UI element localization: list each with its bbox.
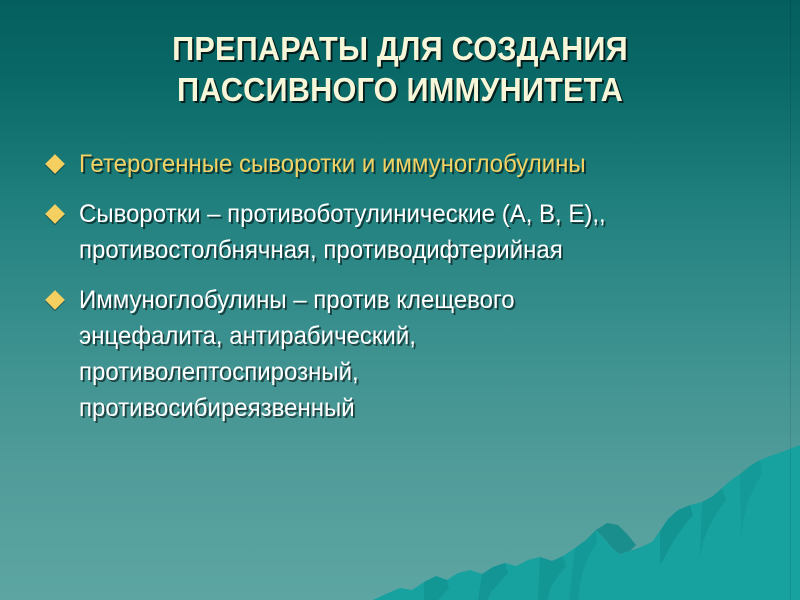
slide-right-rule bbox=[790, 0, 791, 600]
list-item[interactable]: Сыворотки – противоботулинические (А, В,… bbox=[44, 196, 764, 268]
presentation-slide: ПРЕПАРАТЫ ДЛЯ СОЗДАНИЯ ПАССИВНОГО ИММУНИ… bbox=[0, 0, 800, 600]
diamond-bullet-icon bbox=[45, 204, 65, 224]
list-item[interactable]: Иммуноглобулины – против клещевого энцеф… bbox=[44, 282, 764, 426]
diamond-bullet-icon bbox=[45, 154, 65, 174]
list-item-label: Сыворотки – противоботулинические (А, В,… bbox=[79, 196, 737, 268]
list-item[interactable]: Гетерогенные сыворотки и иммуноглобулины bbox=[44, 146, 764, 182]
diamond-bullet-icon bbox=[45, 290, 65, 310]
bullet-list: Гетерогенные сыворотки и иммуноглобулины… bbox=[44, 146, 764, 440]
slide-title: ПРЕПАРАТЫ ДЛЯ СОЗДАНИЯ ПАССИВНОГО ИММУНИ… bbox=[65, 28, 735, 110]
mountain-ridge-silhouette bbox=[0, 430, 800, 600]
list-item-label: Гетерогенные сыворотки и иммуноглобулины bbox=[79, 146, 737, 182]
list-item-label: Иммуноглобулины – против клещевого энцеф… bbox=[79, 282, 737, 426]
